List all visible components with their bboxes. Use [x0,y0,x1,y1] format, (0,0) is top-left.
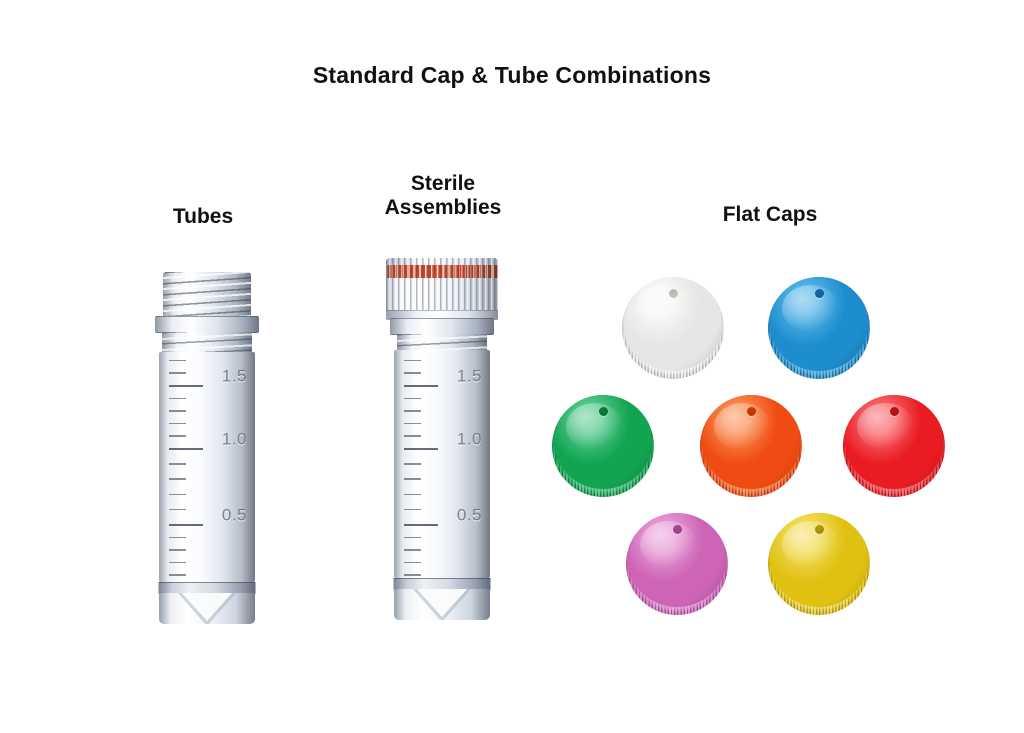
graduation-tick-minor [404,478,421,480]
graduation-tick-minor [404,423,421,425]
tube-flange [155,316,259,333]
graduation-label-1: 1.5 [457,367,482,387]
flat-cap-orange [700,395,802,497]
tube-sterile-assembly: 1.5 1.0 0.5 [386,258,498,624]
tube-threaded-neck [163,272,251,318]
graduation-label-2: 1.0 [457,430,482,450]
graduation-tick-minor [169,494,186,496]
graduation-tick-minor [404,549,421,551]
flat-cap-vent-nub [673,525,682,534]
sterile-tube-body: 1.5 1.0 0.5 [394,350,490,578]
page-title: Standard Cap & Tube Combinations [0,62,1024,89]
graduation-tick-minor [169,463,186,465]
graduation-label-1: 1.5 [222,367,247,387]
flat-cap-blue [768,277,870,379]
flat-cap-vent-nub [669,289,678,298]
tube-conical-bottom-inner [181,593,233,621]
flat-cap-red [843,395,945,497]
graduation-tick-minor [169,537,186,539]
graduation-label-3: 0.5 [222,506,247,526]
graduation-tick-minor [404,410,421,412]
graduation-label-2: 1.0 [222,430,247,450]
graduation-tick-major [404,385,438,387]
product-figure: { "figure": { "title": "Standard Cap & T… [0,0,1024,733]
graduation-tick-minor [404,574,421,576]
graduation-tick-minor [404,537,421,539]
graduation-tick-major [169,524,203,526]
flat-cap-vent-nub [599,407,608,416]
graduation-tick-minor [169,549,186,551]
graduation-tick-major [404,524,438,526]
tube-plain: 1.5 1.0 0.5 [155,272,259,624]
graduation-tick-major [404,448,438,450]
graduation-tick-minor [169,423,186,425]
flat-cap-vent-nub [815,525,824,534]
tube-neck-lower [162,332,252,354]
sterile-tube-conical-bottom-inner [416,589,468,617]
graduation-tick-minor [169,435,186,437]
graduation-tick-minor [169,509,186,511]
graduation-tick-minor [169,410,186,412]
graduation-tick-minor [169,360,186,362]
graduation-tick-minor [404,435,421,437]
graduation-tick-minor [404,509,421,511]
sterile-tube-flange [390,318,494,335]
tube-body: 1.5 1.0 0.5 [159,352,255,582]
graduation-tick-minor [169,562,186,564]
sterile-cap [386,258,498,320]
flat-cap-vent-nub [815,289,824,298]
flat-cap-yellow [768,513,870,615]
flat-cap-vent-nub [747,407,756,416]
column-header-tubes: Tubes [118,205,288,229]
graduation-tick-minor [169,372,186,374]
graduation-tick-minor [404,562,421,564]
graduation-tick-minor [169,478,186,480]
graduation-tick-minor [404,372,421,374]
graduation-tick-major [169,448,203,450]
sterile-tube-base-skirt [394,589,490,620]
graduation-tick-minor [404,463,421,465]
graduation-tick-minor [404,494,421,496]
tube-base-skirt [159,593,255,624]
graduation-tick-minor [169,398,186,400]
graduation-tick-major [169,385,203,387]
column-header-flat-caps: Flat Caps [655,203,885,227]
flat-cap-natural [622,277,724,379]
flat-cap-pink [626,513,728,615]
graduation-tick-minor [404,398,421,400]
graduation-label-3: 0.5 [457,506,482,526]
flat-cap-green [552,395,654,497]
graduation-tick-minor [169,574,186,576]
flat-cap-vent-nub [890,407,899,416]
column-header-sterile-assemblies: Sterile Assemblies [358,172,528,221]
graduation-tick-minor [404,360,421,362]
